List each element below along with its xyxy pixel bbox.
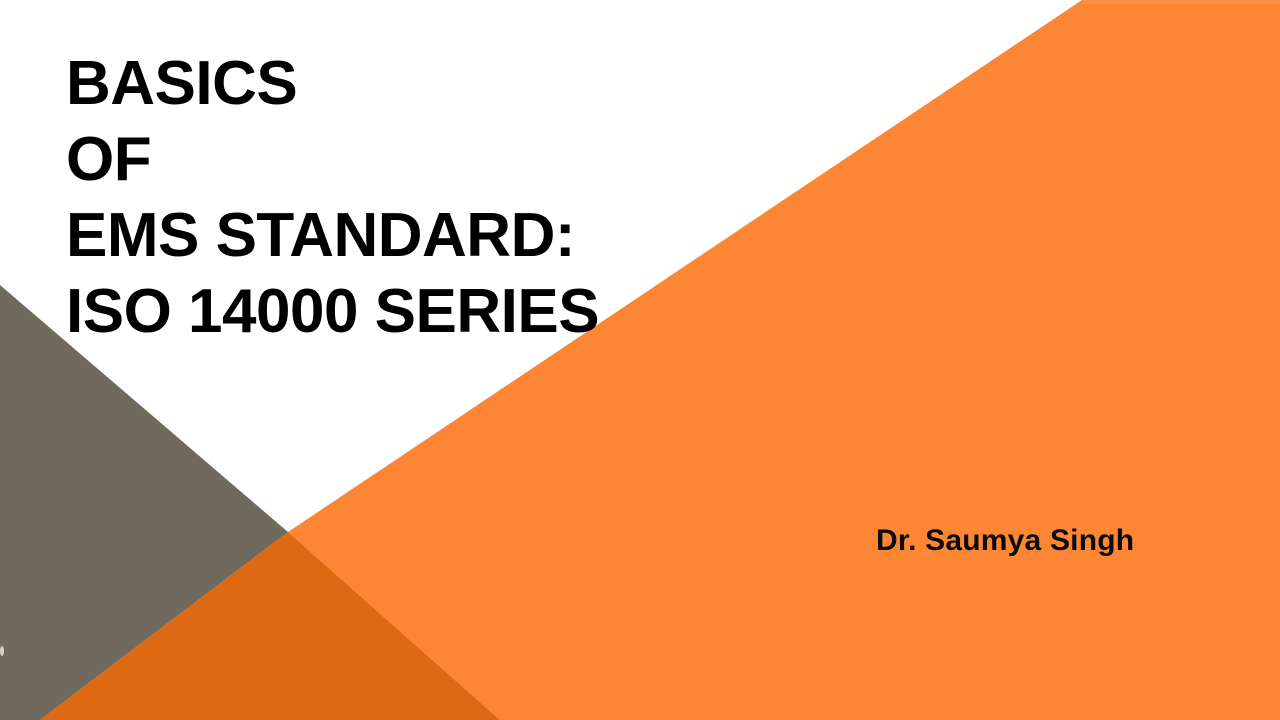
slide-title: BASICS OF EMS STANDARD: ISO 14000 SERIES [66, 46, 766, 350]
title-line-3: EMS STANDARD: [66, 198, 766, 274]
title-line-4: ISO 14000 SERIES [66, 274, 766, 350]
left-edge-dot [0, 646, 4, 656]
title-line-2: OF [66, 122, 766, 198]
author-name: Dr. Saumya Singh [876, 519, 1134, 563]
title-line-1: BASICS [66, 46, 766, 122]
presentation-slide: BASICS OF EMS STANDARD: ISO 14000 SERIES… [0, 0, 1280, 720]
slide-content-layer: BASICS OF EMS STANDARD: ISO 14000 SERIES… [0, 0, 1280, 720]
